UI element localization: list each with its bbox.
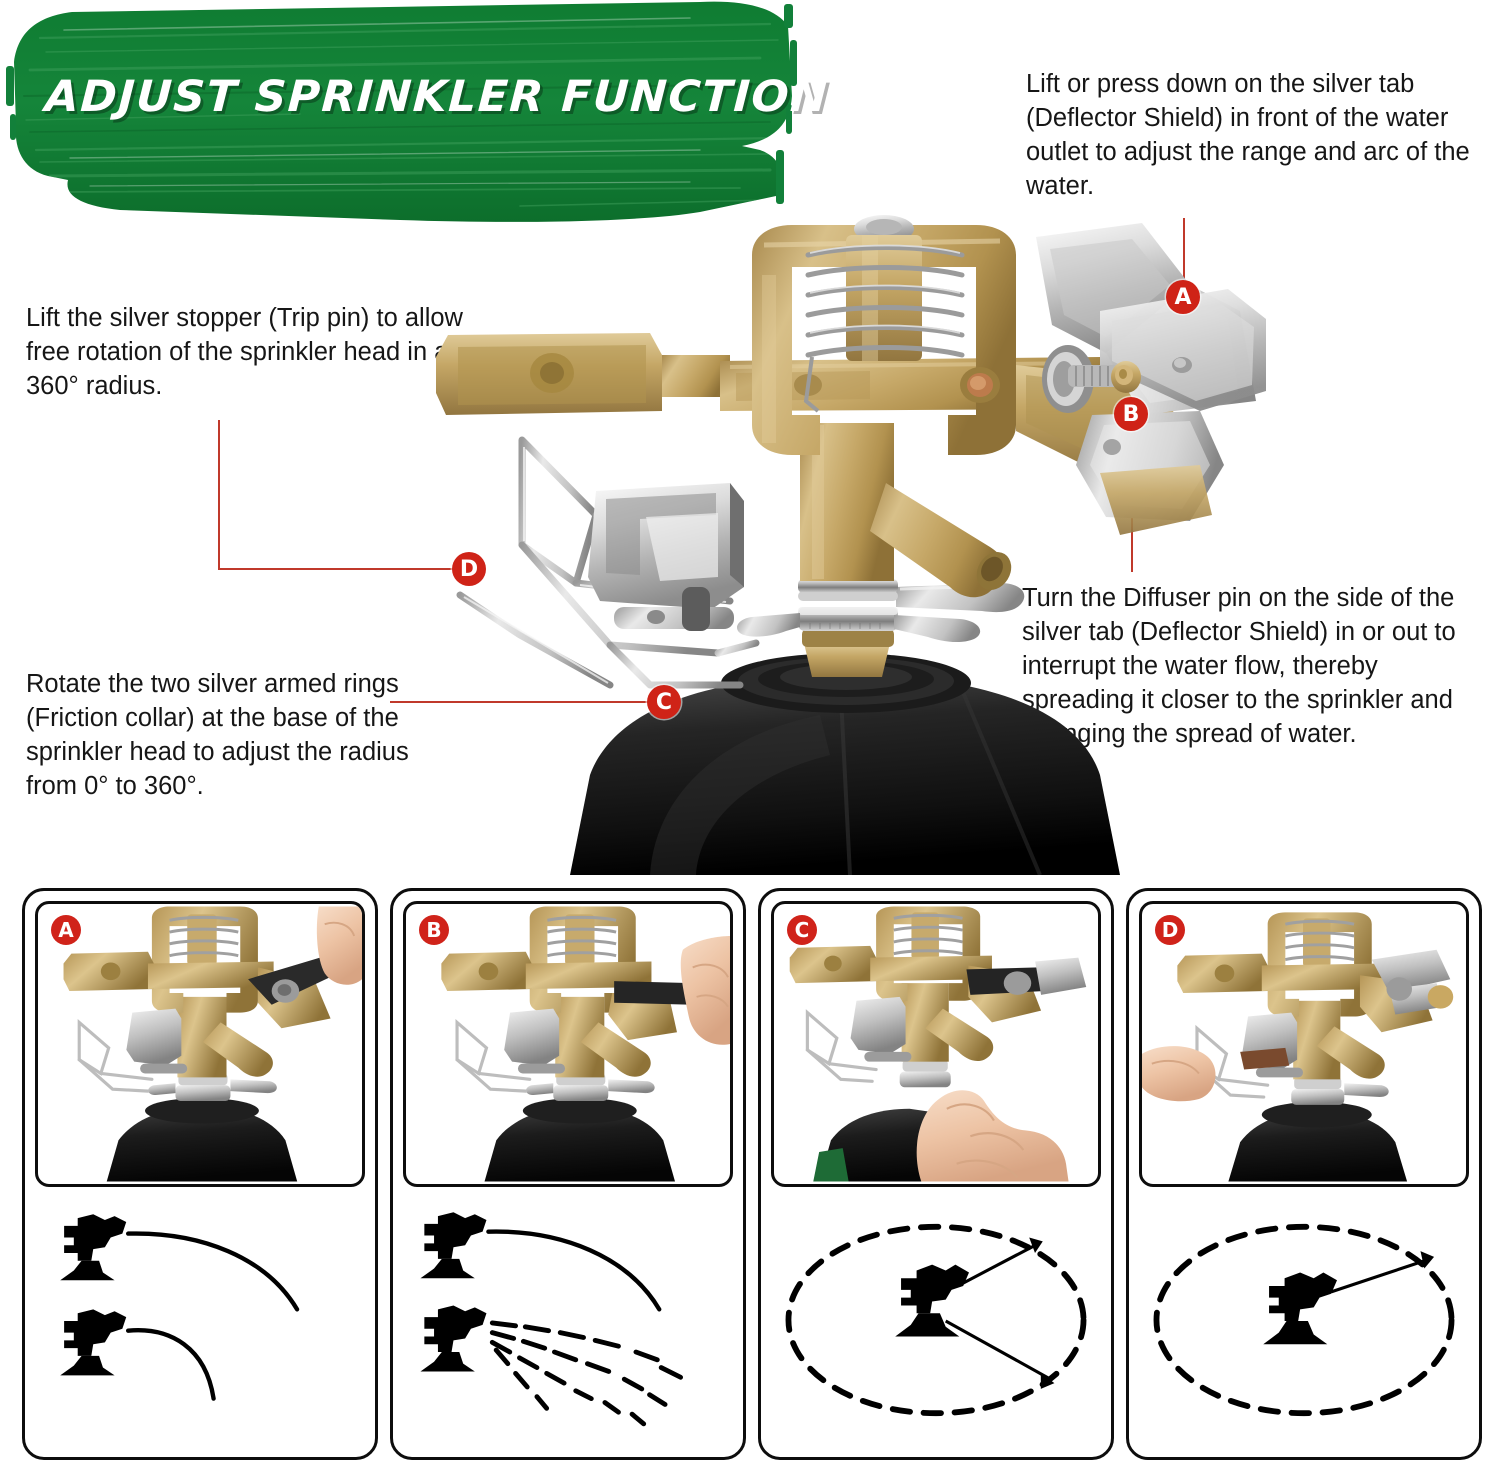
card-b-diagram — [403, 1193, 733, 1447]
card-a-diagram — [35, 1193, 365, 1447]
sprinkler-glyph — [60, 1309, 126, 1375]
callout-text-a: Lift or press down on the silver tab (De… — [1026, 68, 1486, 204]
leader-line-d-vertical — [218, 420, 220, 570]
callout-badge-c[interactable]: C — [647, 685, 681, 719]
sprinkler-glyph — [1263, 1272, 1337, 1344]
hero-product-photo — [400, 215, 1280, 875]
brass-body — [802, 629, 894, 677]
brass-counterweight — [436, 333, 730, 415]
instruction-card-row: A — [22, 888, 1482, 1460]
instruction-card-a[interactable]: A — [22, 888, 378, 1460]
card-d-photo: D — [1139, 901, 1469, 1187]
instruction-card-c[interactable]: C — [758, 888, 1114, 1460]
instruction-card-b[interactable]: B — [390, 888, 746, 1460]
callout-badge-b[interactable]: B — [1114, 397, 1148, 431]
sprinkler-glyph — [420, 1212, 486, 1278]
card-d-badge: D — [1155, 915, 1185, 945]
sprinkler-glyph — [60, 1214, 126, 1280]
card-c-diagram — [771, 1193, 1101, 1447]
sprinkler-glyph — [895, 1265, 969, 1337]
page-title: ADJUST SPRINKLER FUNCTION — [44, 72, 801, 122]
card-d-diagram — [1139, 1193, 1469, 1447]
card-a-badge: A — [51, 915, 81, 945]
brass-blade — [1100, 465, 1212, 535]
card-b-photo: B — [403, 901, 733, 1187]
card-b-badge: B — [419, 915, 449, 945]
card-c-badge: C — [787, 915, 817, 945]
callout-badge-a[interactable]: A — [1166, 280, 1200, 314]
card-c-photo: C — [771, 901, 1101, 1187]
sprinkler-glyph — [420, 1305, 486, 1371]
title-banner: ADJUST SPRINKLER FUNCTION — [0, 0, 800, 228]
instruction-card-d[interactable]: D — [1126, 888, 1482, 1460]
callout-badge-d[interactable]: D — [452, 552, 486, 586]
card-a-photo: A — [35, 901, 365, 1187]
silver-bracket — [588, 483, 744, 631]
